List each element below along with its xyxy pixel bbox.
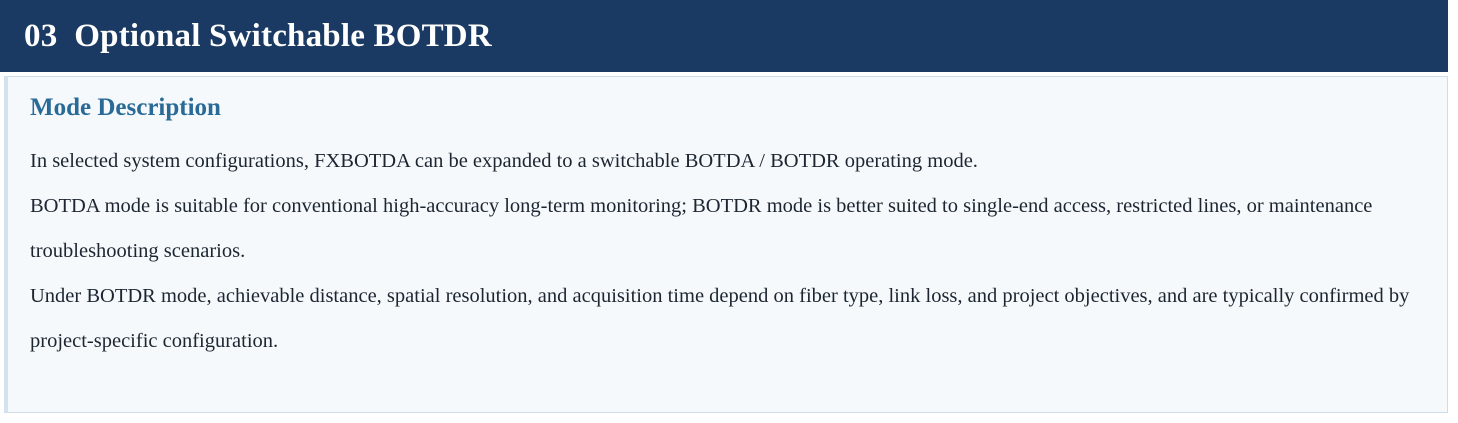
mode-description-subheading: Mode Description bbox=[30, 93, 1421, 123]
paragraph-list: In selected system configurations, FXBOT… bbox=[30, 139, 1421, 364]
body-paragraph: Under BOTDR mode, achievable distance, s… bbox=[30, 274, 1420, 364]
section-body-panel: Mode Description In selected system conf… bbox=[4, 76, 1448, 413]
body-paragraph: In selected system configurations, FXBOT… bbox=[30, 139, 1420, 184]
section-card: 03 Optional Switchable BOTDR Mode Descri… bbox=[0, 0, 1458, 423]
body-paragraph: BOTDA mode is suitable for conventional … bbox=[30, 184, 1420, 274]
section-header-title: 03 Optional Switchable BOTDR bbox=[24, 20, 492, 53]
section-header-bar: 03 Optional Switchable BOTDR bbox=[0, 0, 1448, 72]
